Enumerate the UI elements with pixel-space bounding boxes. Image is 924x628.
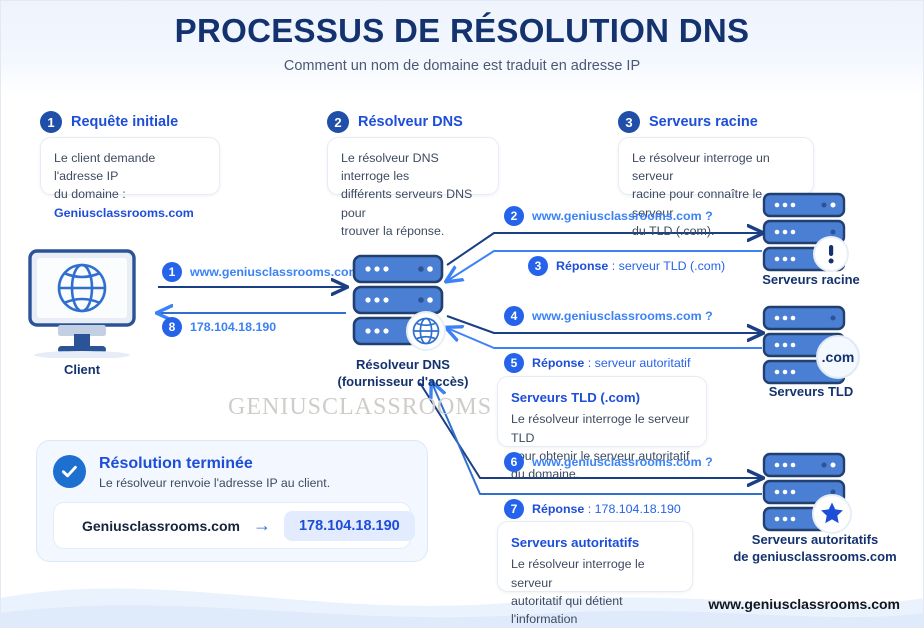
canvas-border	[0, 0, 924, 628]
infographic-canvas: PROCESSUS DE RÉSOLUTION DNS Comment un n…	[0, 0, 924, 628]
